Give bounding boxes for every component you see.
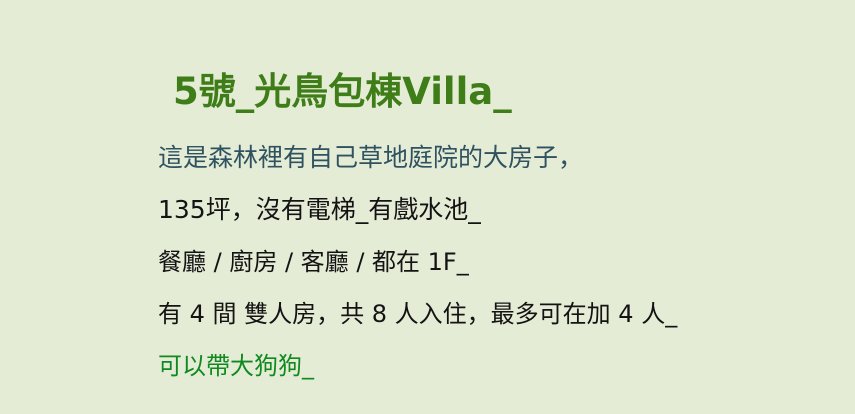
description-line-5: 可以帶大狗狗_ bbox=[158, 340, 848, 392]
listing-description-block: 這是森林裡有自己草地庭院的大房子， 135坪，沒有電梯_有戲水池_ 餐廳 / 廚… bbox=[158, 132, 848, 392]
description-line-2: 135坪，沒有電梯_有戲水池_ bbox=[158, 184, 848, 236]
description-line-3: 餐廳 / 廚房 / 客廳 / 都在 1F_ bbox=[158, 236, 848, 288]
description-line-1: 這是森林裡有自己草地庭院的大房子， bbox=[158, 132, 848, 184]
description-line-4: 有 4 間 雙人房，共 8 人入住，最多可在加 4 人_ bbox=[158, 288, 848, 340]
page-title: 5號_光鳥包棟Villa_ bbox=[173, 69, 512, 115]
listing-description-page: 5號_光鳥包棟Villa_ 這是森林裡有自己草地庭院的大房子， 135坪，沒有電… bbox=[0, 0, 855, 414]
